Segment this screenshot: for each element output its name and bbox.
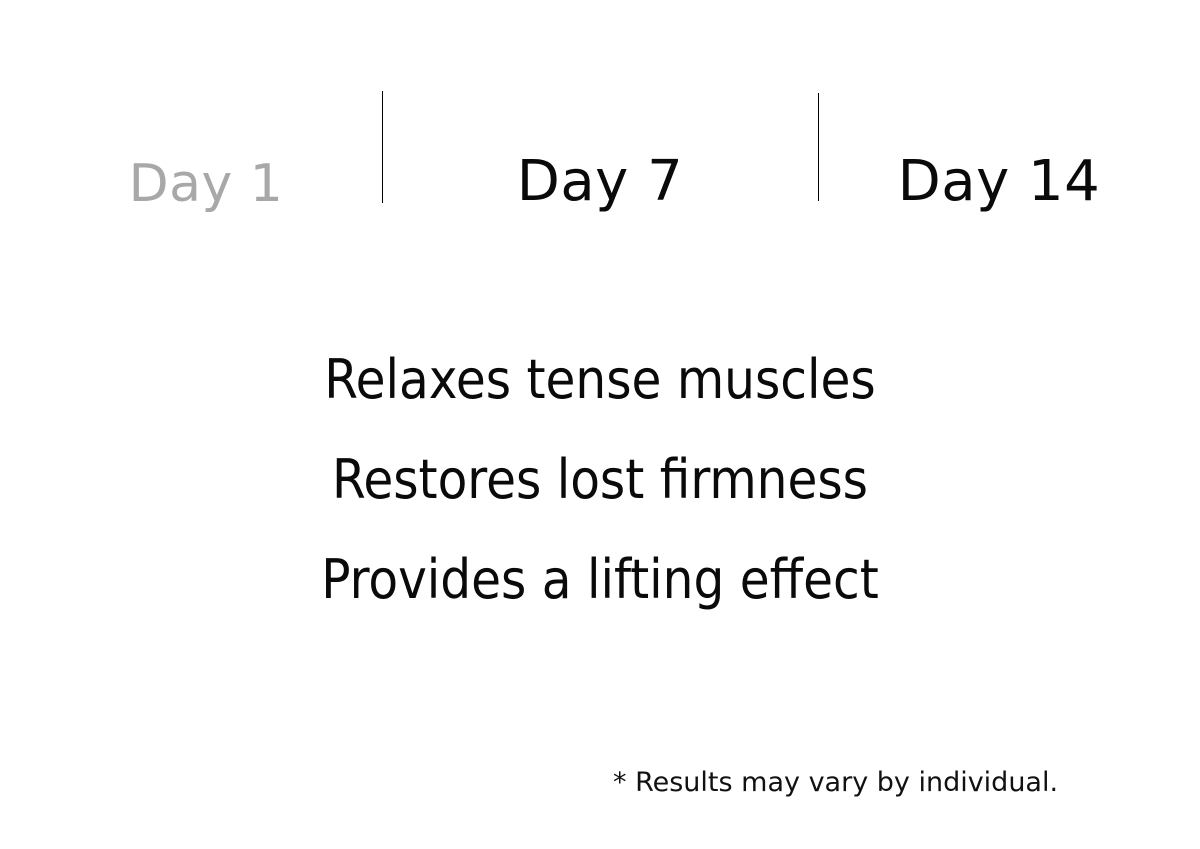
screen-root: Day 1 Day 7 Day 14 Relaxes tense muscles… bbox=[0, 0, 1200, 849]
day-tab-divider-1 bbox=[382, 91, 383, 203]
day-progress-tabs: Day 1 Day 7 Day 14 bbox=[0, 75, 1200, 210]
day-tab-label: Day 1 bbox=[129, 158, 284, 210]
day-tab-day-1[interactable]: Day 1 bbox=[46, 75, 366, 247]
benefit-line: Provides a lifting effect bbox=[0, 530, 1200, 630]
benefit-list: Relaxes tense muscles Restores lost firm… bbox=[0, 330, 1200, 630]
disclaimer-footnote: * Results may vary by individual. bbox=[613, 769, 1058, 796]
day-tab-label: Day 14 bbox=[898, 154, 1101, 210]
day-tab-label: Day 7 bbox=[517, 154, 684, 210]
day-tab-day-7[interactable]: Day 7 bbox=[440, 75, 760, 238]
day-tab-day-14[interactable]: Day 14 bbox=[839, 75, 1159, 238]
benefit-line: Restores lost firmness bbox=[0, 430, 1200, 530]
day-tab-divider-2 bbox=[818, 93, 819, 201]
benefit-line: Relaxes tense muscles bbox=[0, 330, 1200, 430]
